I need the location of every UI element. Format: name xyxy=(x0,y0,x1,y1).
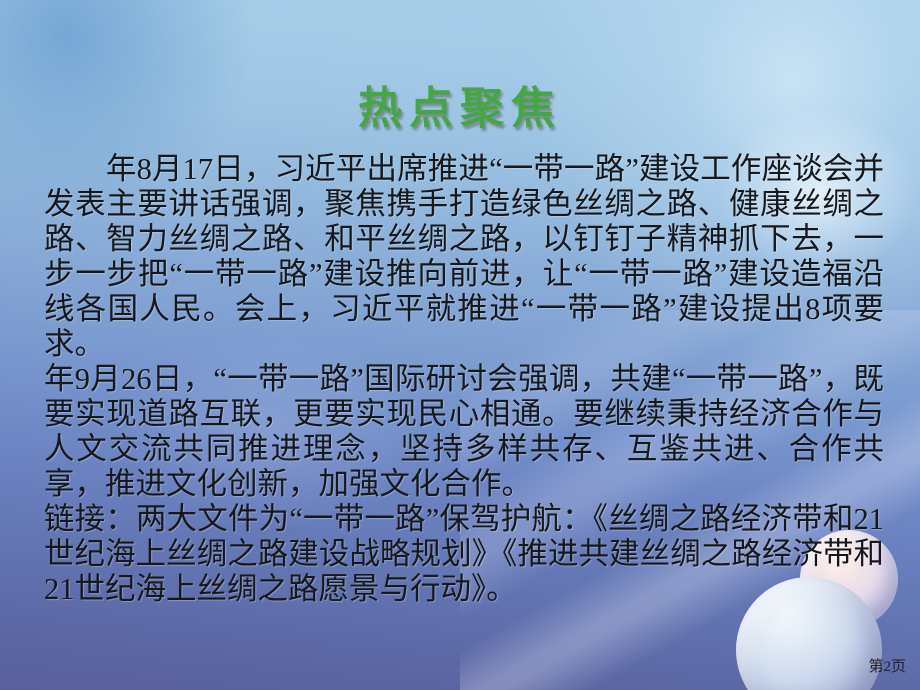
body-paragraph-1: 年8月17日，习近平出席推进“一带一路”建设工作座谈会并发表主要讲话强调，聚焦携… xyxy=(44,152,884,362)
presentation-slide: 热点聚焦 年8月17日，习近平出席推进“一带一路”建设工作座谈会并发表主要讲话强… xyxy=(0,0,920,690)
page-number-label: 第2页 xyxy=(868,655,906,676)
slide-body-text: 年8月17日，习近平出席推进“一带一路”建设工作座谈会并发表主要讲话强调，聚焦携… xyxy=(44,152,884,607)
body-paragraph-2: 年9月26日，“一带一路”国际研讨会强调，共建“一带一路”，既要实现道路互联，更… xyxy=(44,362,884,502)
slide-title: 热点聚焦 xyxy=(0,86,920,132)
body-paragraph-3: 链接：两大文件为“一带一路”保驾护航：《丝绸之路经济带和21世纪海上丝绸之路建设… xyxy=(44,502,884,607)
